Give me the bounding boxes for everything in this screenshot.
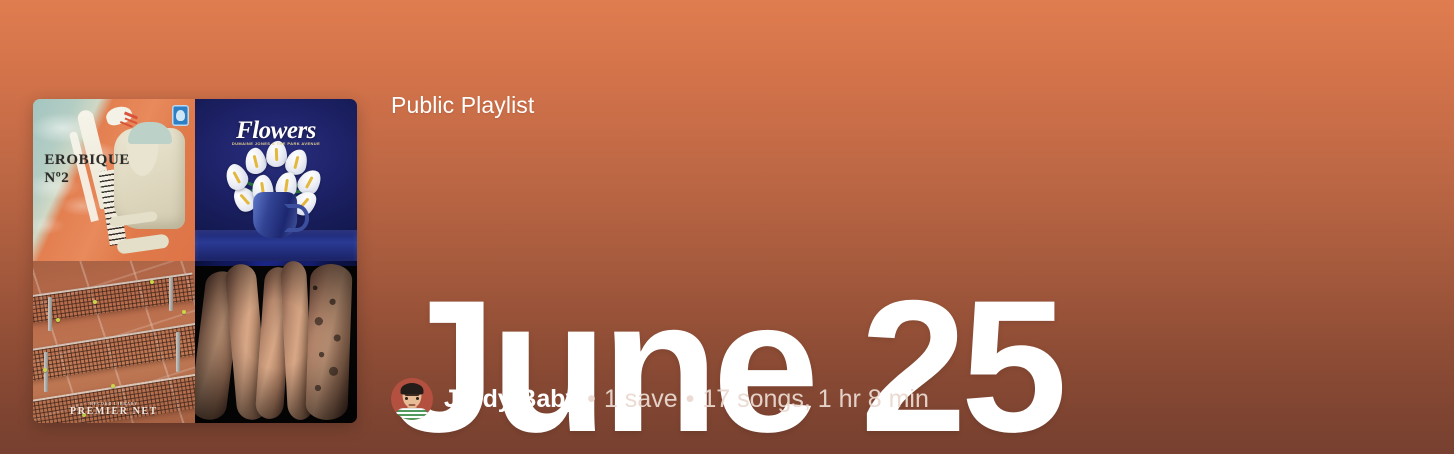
playlist-song-count-duration: 17 songs, 1 hr 8 min [702,385,929,414]
album-title-line: PREMIER NET [70,406,158,417]
avatar[interactable] [391,378,433,420]
tennis-ball-icon [56,318,60,322]
tennis-ball-icon [182,310,186,314]
vignette-overlay [195,261,357,423]
album-cover-flowers-subtitle: DUMAINE JONES & THE PARK AVENUE [195,141,357,146]
avatar-shirt [395,408,429,420]
tennis-ball-icon [43,368,47,372]
net-post-decoration [169,277,173,311]
playlist-type-label: Public Playlist [391,92,1291,120]
net-post-decoration [48,297,52,331]
album-cover-flowers[interactable]: Flowers DUMAINE JONES & THE PARK AVENUE [195,99,357,261]
album-title-line-2: Nº2 [44,170,130,187]
playlist-info: Public Playlist [391,92,1291,120]
page-title: June 25 [390,276,1061,454]
playlist-cover-collage[interactable]: EROBIQUE Nº2 Flowers DUMAINE JONES & THE… [33,99,357,423]
album-title-line-1: EROBIQUE [44,152,130,168]
album-label-line: RECORD LIBRARY [33,401,195,406]
playlist-save-count: 1 save [604,385,678,414]
avatar-mouth [409,404,416,406]
playlist-header-banner: EROBIQUE Nº2 Flowers DUMAINE JONES & THE… [0,0,1454,454]
tennis-ball-icon [111,384,115,388]
net-post-decoration [176,332,180,372]
tennis-ball-icon [93,300,97,304]
album-cover-legs[interactable] [195,261,357,423]
playlist-metadata-row: Jordy Baby • 1 save • 17 songs, 1 hr 8 m… [391,378,929,420]
blue-vase-illustration [253,192,297,238]
avatar-eyes [405,397,419,400]
album-cover-erobique[interactable]: EROBIQUE Nº2 [33,99,195,261]
avatar-brow [405,394,419,396]
metadata-separator-dot: • [579,385,604,414]
avatar-hair [401,383,424,394]
album-cover-premier-net-title: RECORD LIBRARY PREMIER NET [33,401,195,417]
album-cover-premier-net[interactable]: RECORD LIBRARY PREMIER NET [33,261,195,423]
record-label-badge-icon [172,105,189,126]
playlist-owner-link[interactable]: Jordy Baby [444,385,579,414]
metadata-separator-dot: • [678,385,703,414]
album-cover-erobique-title: EROBIQUE Nº2 [44,152,130,187]
